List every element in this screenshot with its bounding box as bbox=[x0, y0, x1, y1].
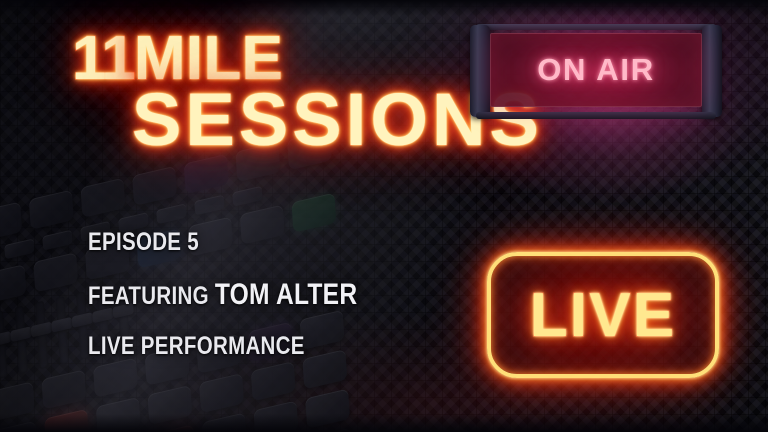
on-air-label: ON AIR bbox=[537, 52, 655, 88]
live-label: LIVE bbox=[530, 280, 677, 351]
on-air-frame-top-rail bbox=[476, 24, 716, 30]
bottom-letterbox bbox=[0, 414, 768, 432]
performance-label: LIVE PERFORMANCE bbox=[88, 332, 357, 361]
live-sign[interactable]: LIVE bbox=[487, 252, 719, 378]
on-air-sign[interactable]: ON AIR bbox=[470, 29, 722, 113]
on-air-panel: ON AIR bbox=[490, 33, 702, 107]
on-air-frame-left-post bbox=[470, 25, 490, 117]
featuring-artist-name: TOM ALTER bbox=[215, 278, 358, 311]
featuring-label: FEATURING TOM ALTER bbox=[88, 278, 357, 312]
on-air-frame-right-post bbox=[702, 25, 722, 117]
title-number: 11 bbox=[72, 24, 134, 93]
poster-canvas: 11MILE SESSIONS ON AIR LIVE EPISODE 5 FE… bbox=[0, 0, 768, 432]
episode-label: EPISODE 5 bbox=[88, 228, 357, 257]
on-air-frame-bottom-rail bbox=[476, 112, 716, 119]
top-letterbox bbox=[0, 0, 768, 16]
featuring-prefix: FEATURING bbox=[88, 282, 215, 310]
credits-block: EPISODE 5 FEATURING TOM ALTER LIVE PERFO… bbox=[88, 228, 416, 361]
